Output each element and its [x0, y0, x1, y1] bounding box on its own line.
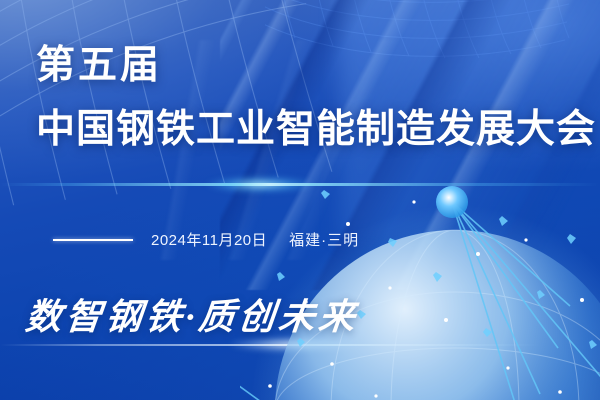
banner-content: 第五届 中国钢铁工业智能制造发展大会 2024年11月20日 福建·三明 数智钢…: [0, 0, 600, 400]
conference-banner: 第五届 中国钢铁工业智能制造发展大会 2024年11月20日 福建·三明 数智钢…: [0, 0, 600, 400]
event-location: 福建·三明: [289, 229, 359, 250]
event-slogan: 数智钢铁·质创未来: [23, 288, 361, 340]
meta-rule-divider: [53, 239, 133, 241]
event-meta: 2024年11月20日 福建·三明: [53, 229, 359, 250]
title-line-1: 第五届: [36, 46, 162, 85]
event-date: 2024年11月20日: [151, 229, 267, 250]
title-line-2: 中国钢铁工业智能制造发展大会: [36, 110, 596, 149]
